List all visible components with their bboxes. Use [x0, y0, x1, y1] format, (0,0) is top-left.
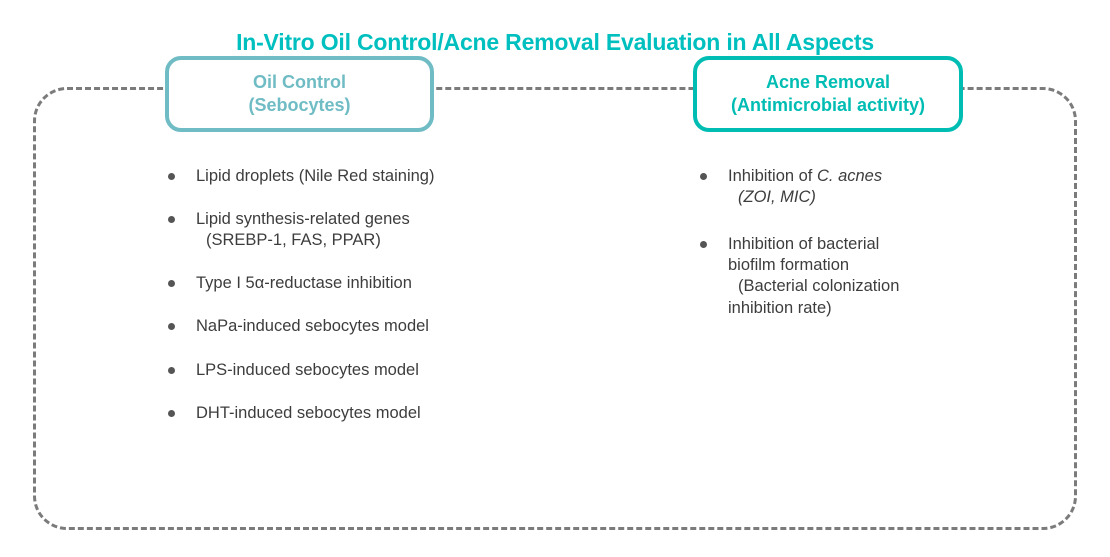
list-item-line: inhibition rate): [728, 298, 1000, 319]
list-item: Lipid synthesis-related genes(SREBP-1, F…: [168, 209, 568, 251]
list-item: Inhibition of C. acnes(ZOI, MIC): [700, 166, 1000, 208]
category-title-line1: Oil Control: [253, 72, 346, 92]
list-item: Type I 5α-reductase inhibition: [168, 273, 568, 294]
list-item-line: Inhibition of C. acnes: [728, 166, 1000, 187]
list-item-line: (ZOI, MIC): [728, 187, 1000, 208]
list-item: DHT-induced sebocytes model: [168, 403, 568, 424]
bullet-dot-icon: [168, 323, 175, 330]
bullet-dot-icon: [168, 173, 175, 180]
bullet-dot-icon: [700, 241, 707, 248]
category-title-line2: (Antimicrobial activity): [731, 95, 925, 115]
category-box-oil-control: Oil Control (Sebocytes): [165, 56, 434, 132]
bullet-list-acne-removal: Inhibition of C. acnes(ZOI, MIC)Inhibiti…: [700, 166, 1000, 345]
bullet-dot-icon: [168, 367, 175, 374]
bullet-list-oil-control: Lipid droplets (Nile Red staining)Lipid …: [168, 166, 568, 446]
list-item-line: NaPa-induced sebocytes model: [196, 316, 568, 337]
bullet-dot-icon: [168, 280, 175, 287]
list-item: NaPa-induced sebocytes model: [168, 316, 568, 337]
list-item-line: DHT-induced sebocytes model: [196, 403, 568, 424]
category-title-line2: (Sebocytes): [248, 95, 350, 115]
bullet-dot-icon: [168, 216, 175, 223]
list-item-line: Lipid synthesis-related genes: [196, 209, 568, 230]
list-item-line: biofilm formation: [728, 255, 1000, 276]
list-item-line: (Bacterial colonization: [728, 276, 1000, 297]
list-item-line: Inhibition of bacterial: [728, 234, 1000, 255]
list-item: Inhibition of bacterialbiofilm formation…: [700, 234, 1000, 318]
category-title-line1: Acne Removal: [766, 72, 890, 92]
bullet-dot-icon: [168, 410, 175, 417]
page-title: In-Vitro Oil Control/Acne Removal Evalua…: [0, 29, 1110, 56]
list-item-line: LPS-induced sebocytes model: [196, 360, 568, 381]
list-item-line: Type I 5α-reductase inhibition: [196, 273, 568, 294]
list-item: Lipid droplets (Nile Red staining): [168, 166, 568, 187]
bullet-dot-icon: [700, 173, 707, 180]
list-item-line: Lipid droplets (Nile Red staining): [196, 166, 568, 187]
species-name: C. acnes: [817, 167, 882, 185]
category-box-acne-removal: Acne Removal (Antimicrobial activity): [693, 56, 963, 132]
list-item-line: (SREBP-1, FAS, PPAR): [196, 230, 568, 251]
list-item: LPS-induced sebocytes model: [168, 360, 568, 381]
